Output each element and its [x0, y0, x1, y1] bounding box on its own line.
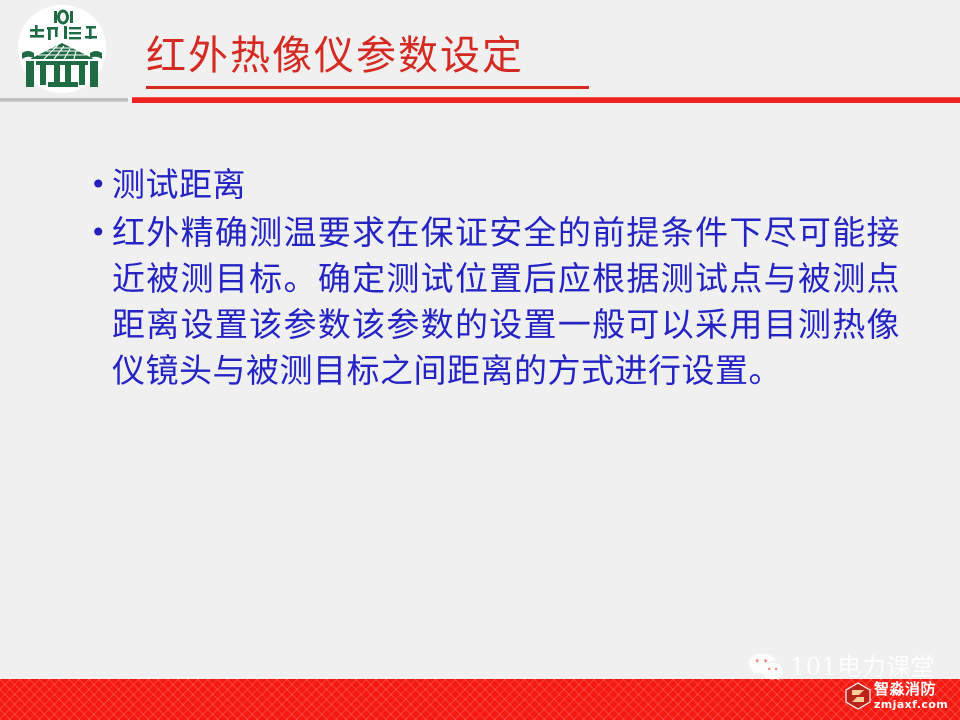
logo — [14, 3, 110, 95]
bullet-text: 测试距离 — [112, 162, 900, 208]
slide-header: 红外热像仪参数设定 — [0, 0, 960, 104]
site-watermark: 智淼消防 zmjaxf.com — [845, 682, 948, 710]
watermark-brand: 智淼消防 — [874, 682, 948, 697]
wechat-watermark: 101电力课堂 — [748, 652, 935, 682]
bullet-item: • 测试距离 — [90, 162, 900, 208]
slide-body: • 测试距离 • 红外精确测温要求在保证安全的前提条件下尽可能接近被测目标。确定… — [90, 162, 900, 396]
zmjaxf-logo-icon — [845, 682, 871, 710]
watermark-url: zmjaxf.com — [874, 699, 948, 710]
footer-red-bar — [0, 679, 960, 720]
header-divider-red — [132, 97, 960, 103]
bullet-item: • 红外精确测温要求在保证安全的前提条件下尽可能接近被测目标。确定测试位置后应根… — [90, 210, 900, 394]
zmjaxf-text-group: 智淼消防 zmjaxf.com — [874, 682, 948, 710]
header-divider-gray — [0, 98, 128, 102]
wechat-icon — [748, 652, 784, 682]
bullet-marker-icon: • — [90, 162, 112, 208]
wechat-account-label: 101电力课堂 — [790, 652, 935, 682]
title-underline — [146, 86, 589, 89]
bullet-text: 红外精确测温要求在保证安全的前提条件下尽可能接近被测目标。确定测试位置后应根据测… — [112, 210, 900, 394]
page-title: 红外热像仪参数设定 — [146, 36, 524, 76]
slide-canvas: 红外热像仪参数设定 • 测试距离 • 红外精确测温要求在保证安全的前提条件下尽可… — [0, 0, 960, 720]
bullet-marker-icon: • — [90, 210, 112, 256]
